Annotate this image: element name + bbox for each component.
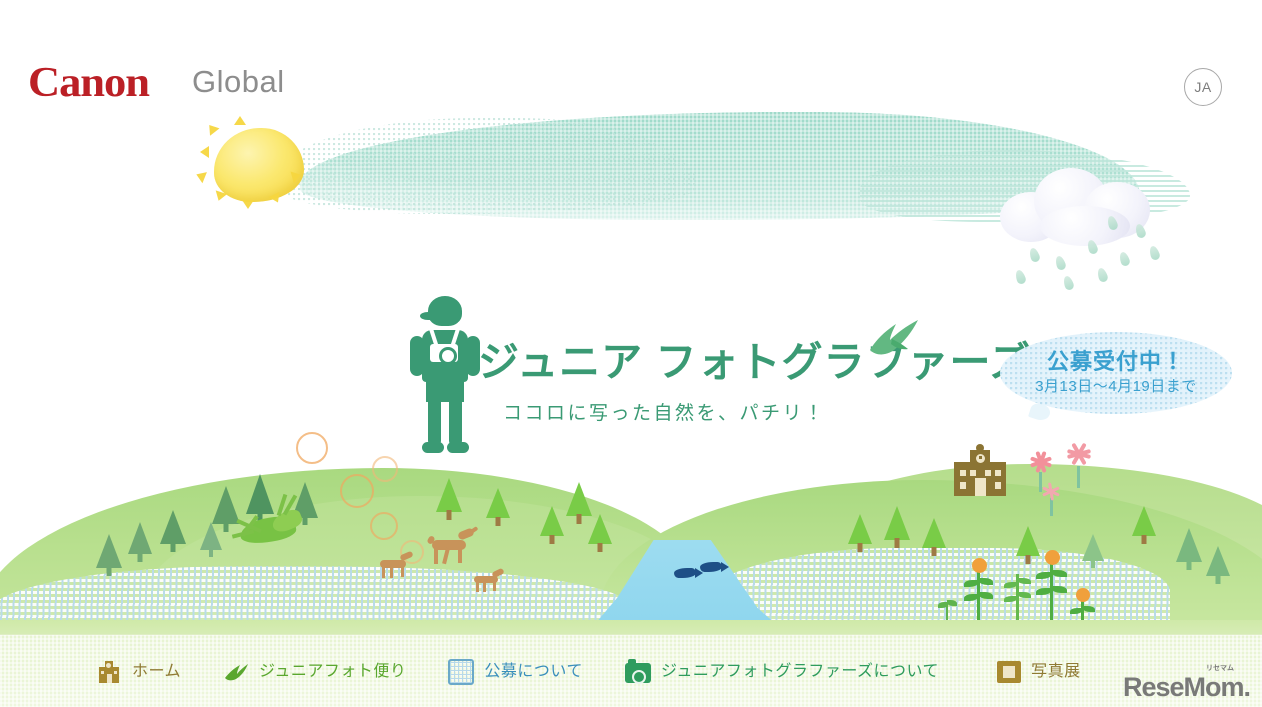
resemom-watermark: リセマム ReseMom. <box>1123 674 1250 701</box>
grasshopper-icon <box>222 496 312 552</box>
sun-ray <box>194 169 207 183</box>
announcement-headline: 公募受付中！ <box>1047 349 1185 374</box>
pine-tree <box>1082 534 1104 568</box>
pine-tree <box>588 514 612 552</box>
flying-bird-icon <box>862 306 924 368</box>
announcement-bubble[interactable]: 公募受付中！ 3月13日〜4月19日まで <box>1000 332 1232 414</box>
announcement-period: 3月13日〜4月19日まで <box>1035 377 1197 397</box>
pine-tree <box>96 534 122 574</box>
flower <box>1040 488 1064 516</box>
pine-tree <box>1206 546 1230 584</box>
flower <box>340 474 374 508</box>
nav-item-list: ホーム ジュニアフォト便り 公募について ジュニアフォトグラファーズについて <box>0 659 1081 685</box>
site-header: Canon Global JA <box>0 0 1262 140</box>
page-subtitle: ココロに写った自然を、パチリ！ <box>503 404 826 423</box>
plant-with-flower <box>964 558 994 622</box>
sun-ray <box>242 200 254 209</box>
child-photographer-silhouette <box>406 296 484 456</box>
school-building-icon <box>96 660 122 684</box>
page-root: Canon Global JA <box>0 0 1262 707</box>
calendar-icon <box>448 659 474 685</box>
nav-item-home[interactable]: ホーム <box>96 660 181 684</box>
language-switch-button[interactable]: JA <box>1184 68 1222 106</box>
nav-item-photo-news[interactable]: ジュニアフォト便り <box>223 660 406 684</box>
camera-lens <box>439 347 457 365</box>
language-code-label: JA <box>1194 79 1211 95</box>
camera-icon <box>625 663 651 683</box>
sun-ray <box>200 146 209 158</box>
deer <box>376 552 416 578</box>
pine-tree <box>486 488 510 526</box>
nav-label-about-jp: ジュニアフォトグラファーズについて <box>661 664 939 680</box>
flower <box>370 512 398 540</box>
nav-label-home: ホーム <box>132 664 181 680</box>
canon-logo[interactable]: Canon <box>28 62 149 104</box>
deer <box>426 528 478 562</box>
pine-tree <box>540 506 564 544</box>
pine-tree <box>848 514 872 552</box>
pine-tree <box>128 522 152 560</box>
photo-frame-icon <box>997 661 1021 683</box>
pine-tree <box>922 518 946 556</box>
nav-label-about-contest: 公募について <box>484 664 583 680</box>
plant-with-flower <box>1036 550 1068 622</box>
main-navigation: ホーム ジュニアフォト便り 公募について ジュニアフォトグラファーズについて <box>0 634 1262 707</box>
nav-label-exhibition: 写真展 <box>1031 664 1081 680</box>
nav-item-exhibition[interactable]: 写真展 <box>997 661 1081 683</box>
pine-tree <box>1132 506 1156 544</box>
nav-item-about-jp[interactable]: ジュニアフォトグラファーズについて <box>625 660 939 683</box>
plant-sprout <box>938 598 956 620</box>
page-title: ジュニア フォトグラファーズ <box>478 342 1031 383</box>
pine-tree <box>1176 528 1202 570</box>
pine-tree <box>436 478 462 520</box>
pine-tree <box>884 506 910 548</box>
bird-icon <box>223 660 249 684</box>
plant-stem <box>1004 572 1032 624</box>
nav-item-about-contest[interactable]: 公募について <box>448 659 583 685</box>
deer <box>470 570 508 594</box>
watermark-furigana: リセマム <box>1206 665 1234 672</box>
cloud-icon <box>1000 158 1190 250</box>
nav-label-photo-news: ジュニアフォト便り <box>259 664 406 680</box>
watermark-text: ReseMom. <box>1123 672 1250 702</box>
global-label[interactable]: Global <box>192 66 285 97</box>
pine-tree <box>160 510 186 550</box>
